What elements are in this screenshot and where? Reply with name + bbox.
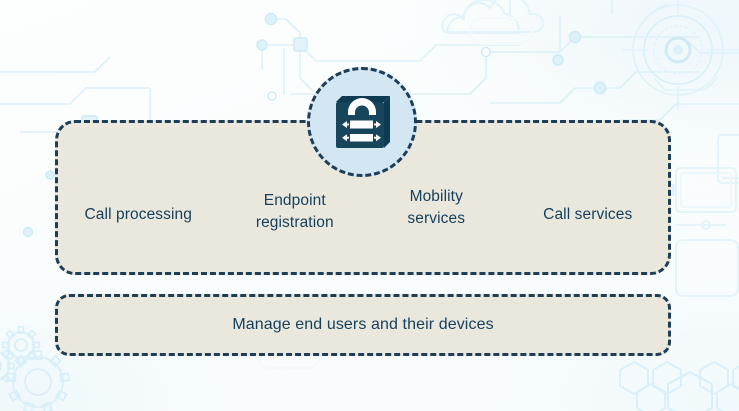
features-label-row: Call processing Endpoint registration Mo… — [55, 186, 671, 256]
feature-label-mobility-services: Mobility services — [376, 186, 496, 231]
bottom-panel-caption: Manage end users and their devices — [55, 294, 671, 356]
feature-label-call-processing: Call processing — [63, 186, 213, 226]
call-manager-icon — [328, 88, 396, 156]
slide-canvas: Call processing Endpoint registration Mo… — [0, 0, 739, 411]
device-outlines — [673, 135, 739, 296]
feature-label-endpoint-registration: Endpoint registration — [230, 186, 360, 235]
hexagon-cluster-outline — [620, 362, 739, 411]
hud-target-rings — [622, 0, 739, 110]
call-manager-badge — [307, 67, 417, 177]
feature-label-call-services: Call services — [513, 186, 663, 226]
cloud-outline — [442, 0, 543, 33]
